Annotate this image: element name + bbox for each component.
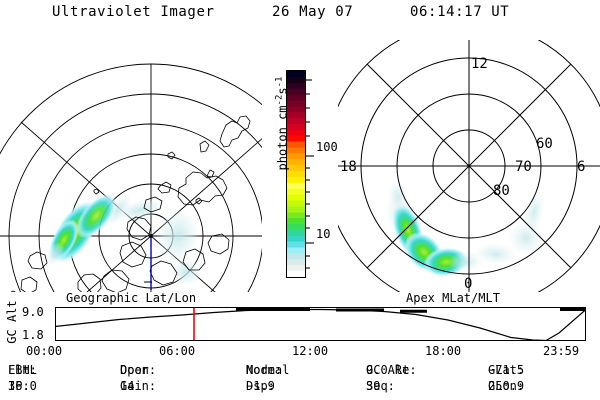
colorbar-unit-exp1: -2 xyxy=(275,95,285,106)
mlt-label-0: 0 xyxy=(464,276,472,292)
orbit-y-tick-low: 1.8 xyxy=(22,328,44,342)
orbit-altitude-chart[interactable] xyxy=(55,307,586,341)
header-bar: Ultraviolet Imager 26 May 07 06:14:17 UT xyxy=(0,4,600,30)
orbit-x-tick-1800: 18:00 xyxy=(425,344,461,358)
colorbar-unit-mid: s xyxy=(276,87,290,94)
apex-mlt-dial-panel[interactable]: 12 6 0 18 60 70 80 xyxy=(338,40,600,292)
colorbar-tick-axis xyxy=(305,70,315,278)
aurora-emission-apex xyxy=(378,178,550,279)
geographic-graticule xyxy=(0,64,262,292)
colorbar-unit-label: photon cm-2s-1 xyxy=(275,59,290,189)
mlt-dial-graticule xyxy=(338,40,600,292)
intensity-colorbar[interactable]: 100 10 photon cm-2s-1 xyxy=(255,62,343,290)
mlat-label-80: 80 xyxy=(493,183,510,199)
orbit-y-tick-high: 9.0 xyxy=(22,305,44,319)
mlt-label-12: 12 xyxy=(471,56,488,72)
aurora-emission-geographic xyxy=(42,188,206,291)
geographic-map-panel[interactable] xyxy=(0,40,262,292)
mlt-label-6: 6 xyxy=(577,159,585,175)
orbit-y-axis-label: GC Alt xyxy=(5,299,19,345)
mlat-label-70: 70 xyxy=(515,159,532,175)
observation-time: 06:14:17 UT xyxy=(410,4,509,20)
orbit-x-tick-0600: 06:00 xyxy=(159,344,195,358)
colorbar-unit-exp2: -1 xyxy=(275,77,285,88)
observation-date: 26 May 07 xyxy=(272,4,353,20)
status-bar: Flt: LBHL Door: Open Mode: Normal GC Alt… xyxy=(0,363,600,399)
colorbar-tick-10: 10 xyxy=(316,228,330,240)
instrument-title: Ultraviolet Imager xyxy=(52,4,215,20)
spacecraft-nadir-marker xyxy=(144,234,156,290)
colorbar-unit-main: photon cm xyxy=(276,105,290,170)
mlt-label-18: 18 xyxy=(340,159,357,175)
orbit-x-tick-2359: 23:59 xyxy=(543,344,579,358)
orbit-altitude-strip[interactable]: GC Alt 9.0 1.8 00:00 06:00 12:00 18:00 2… xyxy=(0,303,600,357)
orbit-x-tick-1200: 12:00 xyxy=(292,344,328,358)
orbit-x-tick-0000: 00:00 xyxy=(26,344,62,358)
mlat-label-60: 60 xyxy=(536,136,553,152)
colorbar-tick-100: 100 xyxy=(316,141,338,153)
